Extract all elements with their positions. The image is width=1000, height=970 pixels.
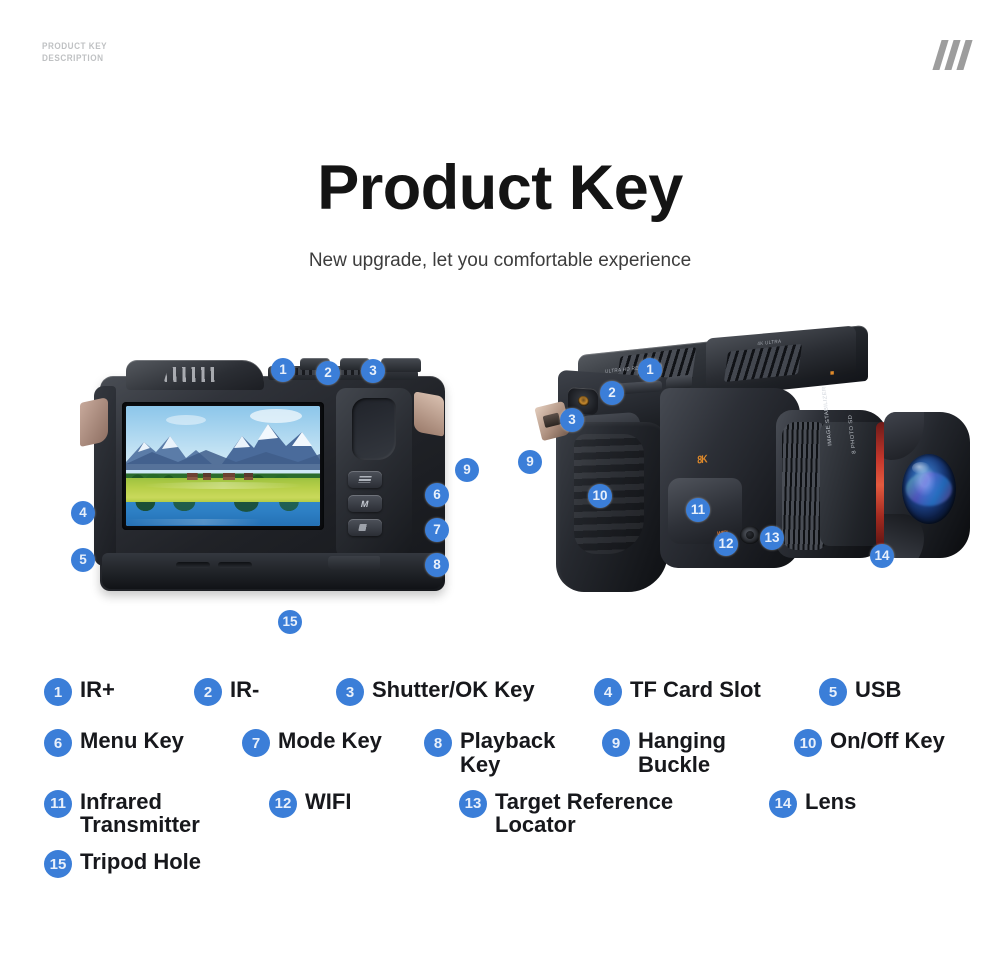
callout-badge-3: 3 bbox=[361, 359, 385, 383]
legend-item-3[interactable]: 3 Shutter/OK Key bbox=[336, 676, 594, 706]
callout-badge-9: 9 bbox=[518, 450, 542, 474]
legend-badge-7: 7 bbox=[242, 729, 270, 757]
legend-item-1[interactable]: 1 IR+ bbox=[44, 676, 194, 706]
callout-badge-1: 1 bbox=[271, 358, 295, 382]
legend-badge-3: 3 bbox=[336, 678, 364, 706]
legend-label-2: IR- bbox=[230, 676, 259, 702]
legend-badge-11: 11 bbox=[44, 790, 72, 818]
callout-badge-13: 13 bbox=[760, 526, 784, 550]
legend-label-4: TF Card Slot bbox=[630, 676, 761, 702]
lcd-screen bbox=[122, 402, 324, 530]
legend-badge-12: 12 bbox=[269, 790, 297, 818]
legend-item-5[interactable]: 5 USB bbox=[819, 676, 901, 706]
menu-icon bbox=[358, 476, 371, 483]
playback-icon bbox=[358, 524, 372, 531]
callout-badge-11: 11 bbox=[686, 498, 710, 522]
legend-row: 11 Infrared Transmitter 12 WIFI 13 Targe… bbox=[44, 788, 984, 838]
product-stage: M 1 2 3 4 5 6 7 8 9 15 bbox=[0, 320, 1000, 650]
legend-item-2[interactable]: 2 IR- bbox=[194, 676, 336, 706]
camera-top-hump bbox=[126, 360, 264, 390]
legend-item-4[interactable]: 4 TF Card Slot bbox=[594, 676, 819, 706]
legend-label-7: Mode Key bbox=[278, 727, 382, 753]
legend-row: 6 Menu Key 7 Mode Key 8 Playback Key 9 H… bbox=[44, 727, 984, 777]
lcd-lake bbox=[126, 502, 320, 526]
lcd-meadow bbox=[126, 478, 320, 504]
hanging-buckle-lug bbox=[414, 391, 444, 436]
lcd-houses bbox=[184, 473, 265, 480]
callout-badge-6: 6 bbox=[425, 483, 449, 507]
callout-badge-2: 2 bbox=[316, 361, 340, 385]
target-reference-locator bbox=[740, 526, 760, 544]
legend-badge-6: 6 bbox=[44, 729, 72, 757]
legend-item-13[interactable]: 13 Target Reference Locator bbox=[459, 788, 769, 838]
header-kicker: PRODUCT KEY DESCRIPTION bbox=[42, 41, 107, 65]
camera-foot bbox=[328, 556, 380, 570]
legend-badge-14: 14 bbox=[769, 790, 797, 818]
callout-badge-12: 12 bbox=[714, 532, 738, 556]
tf-card-slot-flap bbox=[80, 397, 108, 447]
legend-badge-2: 2 bbox=[194, 678, 222, 706]
callout-badge-5: 5 bbox=[71, 548, 95, 572]
legend-label-13: Target Reference Locator bbox=[495, 788, 673, 838]
header-kicker-line1: PRODUCT KEY bbox=[42, 41, 107, 53]
legend-badge-4: 4 bbox=[594, 678, 622, 706]
callout-badge-1-front: 1 bbox=[638, 358, 662, 382]
shutter-button bbox=[381, 358, 421, 372]
header-kicker-line2: DESCRIPTION bbox=[42, 53, 107, 65]
tripod-slot-right bbox=[218, 562, 252, 568]
8k-badge: 8K bbox=[697, 453, 707, 466]
callout-badge-9-back: 9 bbox=[455, 458, 479, 482]
mode-m-icon: M bbox=[360, 499, 370, 509]
callout-badge-3-front: 3 bbox=[560, 408, 584, 432]
legend-label-6: Menu Key bbox=[80, 727, 184, 753]
legend-item-10[interactable]: 10 On/Off Key bbox=[794, 727, 945, 757]
legend-label-8: Playback Key bbox=[460, 727, 555, 777]
legend-label-10: On/Off Key bbox=[830, 727, 945, 753]
legend: 1 IR+ 2 IR- 3 Shutter/OK Key 4 TF Card S… bbox=[44, 676, 984, 899]
legend-item-14[interactable]: 14 Lens bbox=[769, 788, 856, 818]
legend-label-3: Shutter/OK Key bbox=[372, 676, 535, 702]
legend-item-8[interactable]: 8 Playback Key bbox=[424, 727, 602, 777]
legend-item-7[interactable]: 7 Mode Key bbox=[242, 727, 424, 757]
playback-key-button bbox=[348, 519, 382, 536]
legend-item-12[interactable]: 12 WIFI bbox=[269, 788, 459, 818]
mode-key-button: M bbox=[348, 495, 382, 512]
camera-front-view: ULTRA HD RECORDING 4K ULTRA ■ 8K WIFI IM… bbox=[520, 326, 990, 636]
callout-badge-15: 15 bbox=[278, 610, 302, 634]
legend-badge-8: 8 bbox=[424, 729, 452, 757]
tripod-slot-left bbox=[176, 562, 210, 568]
callout-badge-8: 8 bbox=[425, 553, 449, 577]
thumb-rest bbox=[352, 398, 396, 460]
camera-back-view: M 1 2 3 4 5 6 7 8 9 15 bbox=[78, 358, 468, 608]
legend-badge-9: 9 bbox=[602, 729, 630, 757]
product-key-infographic: PRODUCT KEY DESCRIPTION Product Key New … bbox=[0, 0, 1000, 970]
legend-badge-15: 15 bbox=[44, 850, 72, 878]
legend-row: 15 Tripod Hole bbox=[44, 848, 984, 888]
callout-badge-10: 10 bbox=[588, 484, 612, 508]
top-orange-mark: ■ bbox=[830, 370, 834, 377]
legend-label-12: WIFI bbox=[305, 788, 351, 814]
callout-badge-14: 14 bbox=[870, 544, 894, 568]
legend-item-11[interactable]: 11 Infrared Transmitter bbox=[44, 788, 269, 838]
page-title: Product Key bbox=[0, 152, 1000, 224]
legend-label-15: Tripod Hole bbox=[80, 848, 201, 874]
legend-label-14: Lens bbox=[805, 788, 856, 814]
legend-badge-1: 1 bbox=[44, 678, 72, 706]
legend-label-11: Infrared Transmitter bbox=[80, 788, 200, 838]
lens-glass-element bbox=[902, 454, 956, 524]
legend-item-6[interactable]: 6 Menu Key bbox=[44, 727, 242, 757]
legend-badge-10: 10 bbox=[794, 729, 822, 757]
callout-badge-7: 7 bbox=[425, 518, 449, 542]
legend-label-5: USB bbox=[855, 676, 901, 702]
triple-slash-icon bbox=[937, 40, 968, 70]
legend-row: 1 IR+ 2 IR- 3 Shutter/OK Key 4 TF Card S… bbox=[44, 676, 984, 716]
page-subtitle: New upgrade, let you comfortable experie… bbox=[0, 250, 1000, 272]
callout-badge-4: 4 bbox=[71, 501, 95, 525]
callout-badge-2-front: 2 bbox=[600, 381, 624, 405]
menu-key-button bbox=[348, 471, 382, 488]
legend-label-1: IR+ bbox=[80, 676, 115, 702]
legend-label-9: Hanging Buckle bbox=[638, 727, 726, 777]
legend-badge-5: 5 bbox=[819, 678, 847, 706]
lcd-scene bbox=[126, 406, 320, 526]
camera-base bbox=[102, 553, 442, 589]
legend-badge-13: 13 bbox=[459, 790, 487, 818]
legend-item-9[interactable]: 9 Hanging Buckle bbox=[602, 727, 794, 777]
legend-item-15[interactable]: 15 Tripod Hole bbox=[44, 848, 201, 878]
